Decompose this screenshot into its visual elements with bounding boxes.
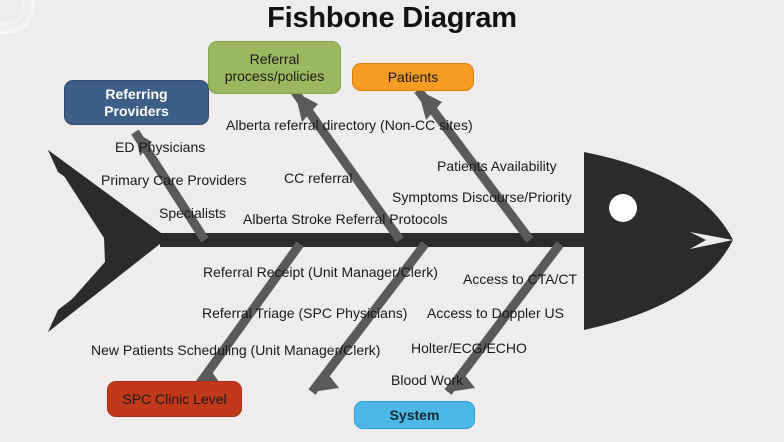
cause-label-ed-physicians: ED Physicians: [115, 140, 205, 154]
cause-label-holter-ecg-echo: Holter/ECG/ECHO: [411, 341, 527, 355]
cause-label-patients-availability: Patients Availability: [437, 159, 557, 173]
category-box-patients[interactable]: Patients: [352, 63, 474, 91]
cause-label-access-to-cta-ct: Access to CTA/CT: [463, 272, 577, 286]
category-label-referring-providers: Referring Providers: [104, 86, 169, 119]
cause-label-referral-triage: Referral Triage (SPC Physicians): [202, 306, 407, 320]
cause-label-specialists: Specialists: [159, 206, 226, 220]
category-box-referring-providers[interactable]: Referring Providers: [64, 80, 209, 125]
cause-label-cc-referral: CC referral: [284, 171, 352, 185]
category-box-referral-process-policies[interactable]: Referral process/policies: [208, 41, 341, 94]
cause-label-blood-work: Blood Work: [391, 373, 463, 387]
category-box-system[interactable]: System: [354, 401, 475, 429]
cause-label-alberta-referral-directory: Alberta referral directory (Non-CC sites…: [226, 118, 473, 132]
category-label-referral-process-policies: Referral process/policies: [225, 51, 325, 84]
cause-label-alberta-stroke-referral-protocols: Alberta Stroke Referral Protocols: [243, 212, 448, 226]
cause-label-new-patients-scheduling: New Patients Scheduling (Unit Manager/Cl…: [91, 343, 380, 357]
category-box-spc-clinic-level[interactable]: SPC Clinic Level: [107, 381, 242, 417]
cause-label-referral-receipt: Referral Receipt (Unit Manager/Clerk): [203, 265, 438, 279]
cause-label-primary-care-providers: Primary Care Providers: [101, 173, 246, 187]
category-label-patients: Patients: [388, 69, 439, 86]
fishbone-diagram-canvas: Fishbone Diagram Re: [0, 0, 784, 442]
fish-eye: [609, 194, 637, 222]
cause-label-symptoms-discourse-priority: Symptoms Discourse/Priority: [392, 190, 572, 204]
cause-label-access-to-doppler-us: Access to Doppler US: [427, 306, 564, 320]
category-label-spc-clinic-level: SPC Clinic Level: [122, 391, 226, 408]
category-label-system: System: [390, 407, 440, 424]
